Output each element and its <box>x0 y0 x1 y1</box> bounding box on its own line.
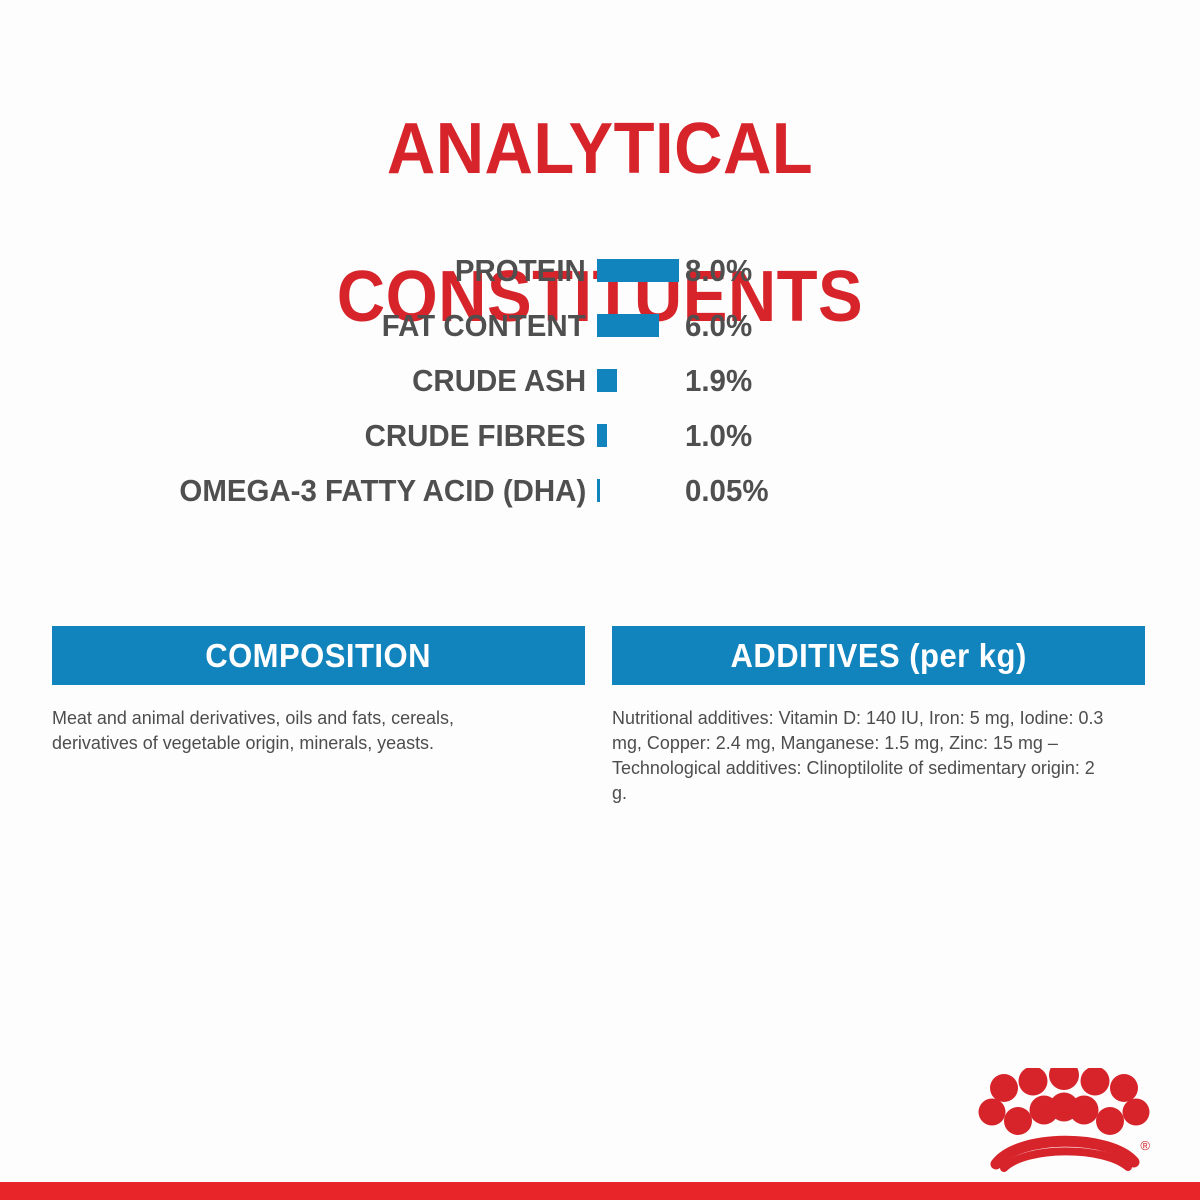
constituent-value: 1.9% <box>685 361 752 401</box>
page-title-line-1: ANALYTICAL <box>42 112 1158 186</box>
info-panels: COMPOSITION Meat and animal derivatives,… <box>52 626 1147 805</box>
chart-row: CRUDE ASH 1.9% <box>0 361 1200 416</box>
constituent-label: CRUDE FIBRES <box>365 416 586 456</box>
constituent-bar <box>597 314 659 337</box>
composition-text: Meat and animal derivatives, oils and fa… <box>52 705 508 755</box>
additives-panel: ADDITIVES (per kg) Nutritional additives… <box>612 626 1145 805</box>
constituent-bar <box>597 369 617 392</box>
constituent-value: 6.0% <box>685 306 752 346</box>
crown-arc-inner <box>1004 1151 1128 1168</box>
constituent-value: 0.05% <box>685 471 769 511</box>
composition-panel: COMPOSITION Meat and animal derivatives,… <box>52 626 585 805</box>
constituent-label: CRUDE ASH <box>412 361 586 401</box>
constituent-value: 1.0% <box>685 416 752 456</box>
product-nutrition-panel: ANALYTICAL CONSTITUENTS PROTEIN 8.0% FAT… <box>0 0 1200 1200</box>
constituent-bar <box>597 259 679 282</box>
chart-row: OMEGA-3 FATTY ACID (DHA) 0.05% <box>0 471 1200 526</box>
constituent-bar-track <box>597 259 679 282</box>
analytical-constituents-chart: PROTEIN 8.0% FAT CONTENT 6.0% CRUDE ASH … <box>0 251 1200 526</box>
chart-row: CRUDE FIBRES 1.0% <box>0 416 1200 471</box>
chart-row: PROTEIN 8.0% <box>0 251 1200 306</box>
additives-panel-body: Nutritional additives: Vitamin D: 140 IU… <box>612 685 1124 805</box>
constituent-bar-track <box>597 314 659 337</box>
registered-trademark-mark: ® <box>1140 1139 1150 1152</box>
constituent-bar <box>597 479 600 502</box>
additives-panel-header-label: ADDITIVES (per kg) <box>730 637 1026 675</box>
royal-canin-logo: ® <box>978 1068 1154 1172</box>
additives-panel-header: ADDITIVES (per kg) <box>612 626 1145 685</box>
constituent-label: FAT CONTENT <box>382 306 586 346</box>
constituent-bar-track <box>597 479 600 502</box>
chart-row: FAT CONTENT 6.0% <box>0 306 1200 361</box>
crown-icon <box>978 1068 1154 1172</box>
composition-panel-header-label: COMPOSITION <box>206 637 432 675</box>
constituent-bar <box>597 424 607 447</box>
composition-panel-header: COMPOSITION <box>52 626 585 685</box>
composition-panel-body: Meat and animal derivatives, oils and fa… <box>52 685 522 755</box>
constituent-bar-track <box>597 424 607 447</box>
constituent-value: 8.0% <box>685 251 752 291</box>
constituent-bar-track <box>597 369 617 392</box>
additives-text: Nutritional additives: Vitamin D: 140 IU… <box>612 705 1109 805</box>
constituent-label: PROTEIN <box>455 251 586 291</box>
constituent-label: OMEGA-3 FATTY ACID (DHA) <box>179 471 586 511</box>
bottom-accent-stripe <box>0 1182 1200 1200</box>
